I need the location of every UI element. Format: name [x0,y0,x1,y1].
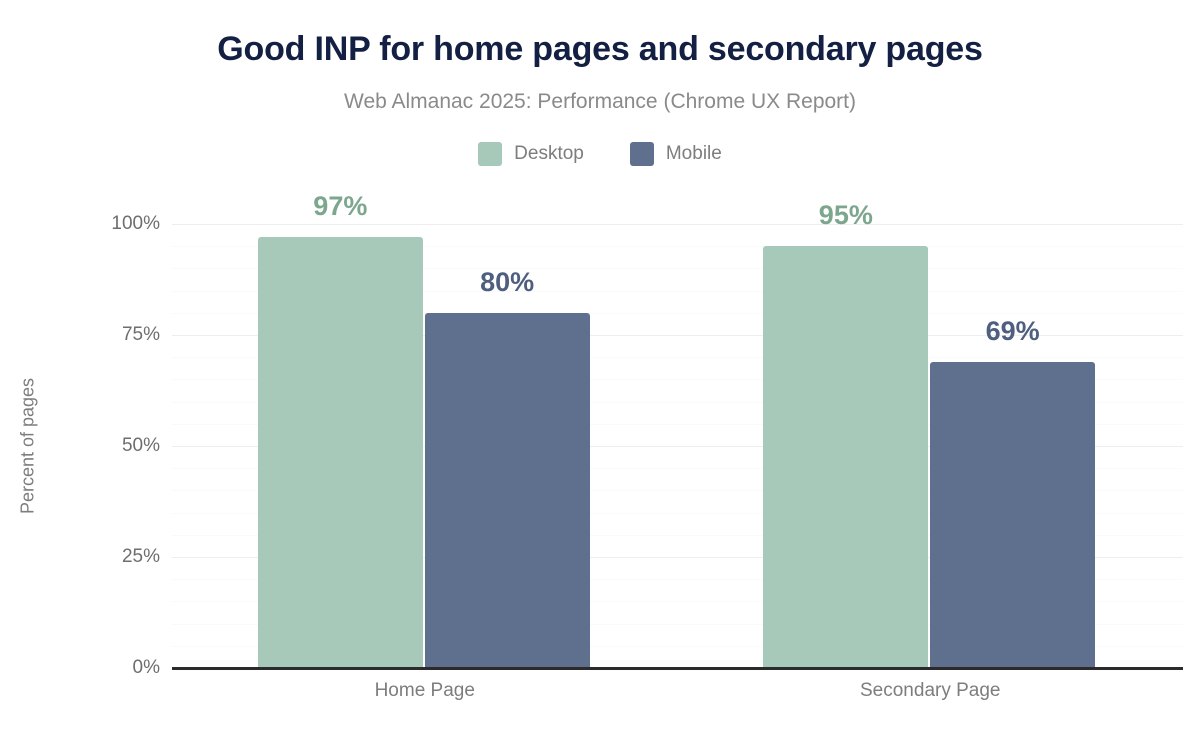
bar-value-label: 80% [480,267,534,298]
bar-value-label: 95% [819,200,873,231]
x-axis-baseline [172,667,1183,670]
legend-swatch-desktop-icon [478,142,502,166]
bar[interactable] [763,246,928,668]
legend-label-mobile: Mobile [666,143,722,165]
plot-area [172,224,1183,668]
y-tick-label: 100% [111,213,160,235]
y-axis-title: Percent of pages [18,378,39,514]
bar[interactable] [258,237,423,668]
legend-swatch-mobile-icon [630,142,654,166]
bar-value-label: 97% [313,191,367,222]
y-tick-label: 75% [122,324,160,346]
legend-label-desktop: Desktop [514,143,584,165]
y-tick-label: 50% [122,435,160,457]
legend-item-desktop[interactable]: Desktop [478,142,584,166]
bar[interactable] [930,362,1095,668]
x-tick-label: Home Page [375,680,475,702]
bar-value-label: 69% [986,316,1040,347]
gridline-major [172,224,1183,225]
x-tick-label: Secondary Page [860,680,1001,702]
chart-subtitle: Web Almanac 2025: Performance (Chrome UX… [0,90,1200,114]
bar[interactable] [425,313,590,668]
chart-title: Good INP for home pages and secondary pa… [0,30,1200,69]
legend-item-mobile[interactable]: Mobile [630,142,722,166]
y-tick-label: 25% [122,546,160,568]
y-tick-label: 0% [133,657,160,679]
chart-container: Good INP for home pages and secondary pa… [0,0,1200,742]
chart-legend: Desktop Mobile [0,142,1200,166]
